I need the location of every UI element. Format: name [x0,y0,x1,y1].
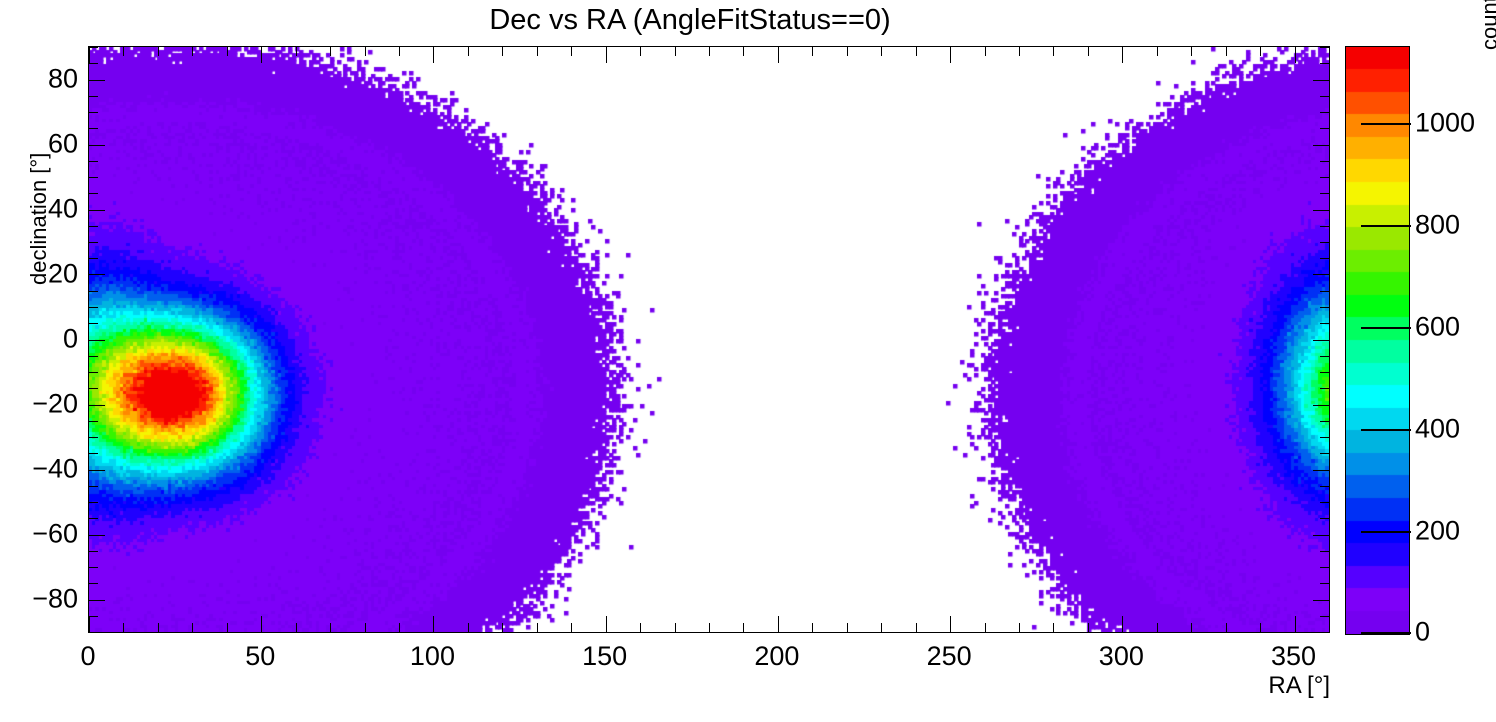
plot-area [88,46,1330,633]
colorbar: 02004006008001000 [1345,46,1408,633]
colorbar-gradient [1345,46,1410,635]
x-axis-tick-label: 350 [1271,641,1316,672]
heatmap-canvas [89,47,1329,632]
x-axis-tick-label: 300 [1099,641,1144,672]
colorbar-tick-label: 400 [1415,413,1460,444]
axis-tick [89,632,98,633]
y-axis-tick-label: −80 [0,583,78,614]
colorbar-tick-label: 0 [1415,617,1430,648]
y-axis-tick-label: 0 [0,323,78,354]
page-title: Dec vs RA (AngleFitStatus==0) [0,4,1380,37]
colorbar-tick-label: 1000 [1415,107,1475,138]
y-axis-tick-label: −40 [0,453,78,484]
x-axis-tick-label: 250 [927,641,972,672]
y-axis-tick-label: −60 [0,518,78,549]
colorbar-title: count [1477,0,1496,50]
colorbar-tick-label: 200 [1415,515,1460,546]
axis-tick [1329,623,1330,632]
axis-tick [1320,632,1329,633]
y-axis-title: declination [°] [26,153,52,285]
x-axis-title: RA [°] [1268,672,1330,700]
y-axis-tick-label: −20 [0,388,78,419]
y-axis-tick-label: 80 [0,63,78,94]
x-axis-tick-label: 150 [582,641,627,672]
plot-root: Dec vs RA (AngleFitStatus==0) −80−60−40−… [0,0,1496,722]
x-axis-tick-label: 0 [80,641,95,672]
colorbar-tick-label: 600 [1415,311,1460,342]
colorbar-tick-label: 800 [1415,209,1460,240]
axis-tick [1329,47,1330,56]
x-axis-tick-label: 100 [410,641,455,672]
x-axis-tick-label: 200 [754,641,799,672]
x-axis-tick-label: 50 [245,641,275,672]
